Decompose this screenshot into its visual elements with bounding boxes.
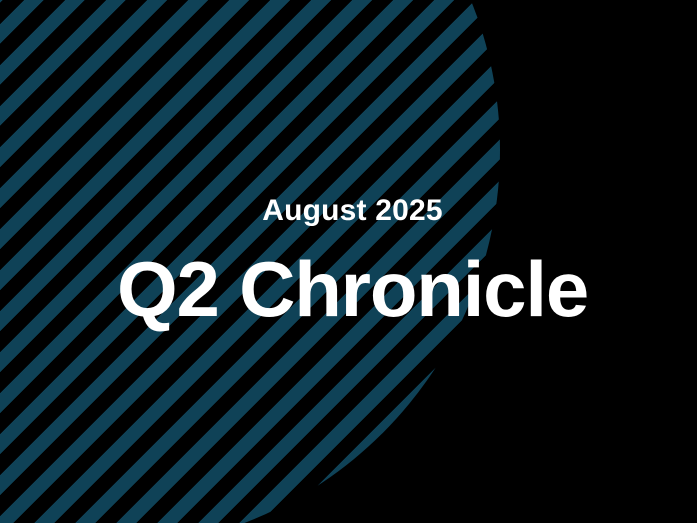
title-text-block: August 2025 Q2 Chronicle [0, 0, 697, 523]
slide-subtitle: August 2025 [262, 196, 443, 226]
title-slide: August 2025 Q2 Chronicle [0, 0, 697, 523]
slide-title: Q2 Chronicle [117, 250, 588, 328]
